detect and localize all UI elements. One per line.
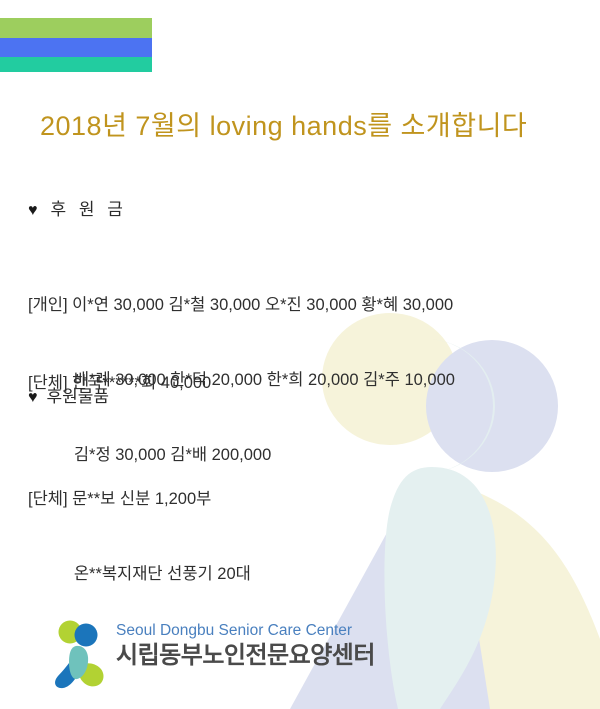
logo-text-group: Seoul Dongbu Senior Care Center 시립동부노인전문… <box>116 618 375 671</box>
section-heading-donation-goods: ♥후원물품 <box>28 382 109 407</box>
color-bar-green <box>0 18 152 38</box>
donation-goods-organization-block: [단체] 문**보 신분 1,200부 온**복지재단 선풍기 20대 <box>28 437 251 637</box>
watermark-yellow-wedge <box>455 484 600 709</box>
section-heading-label: 후 원 금 <box>51 200 127 219</box>
poster-page: 2018년 7월의 loving hands를 소개합니다 ♥후 원 금 [개인… <box>0 0 600 709</box>
header-color-bars <box>0 18 152 72</box>
person-logo-mark-icon <box>48 618 110 690</box>
footer-logo: Seoul Dongbu Senior Care Center 시립동부노인전문… <box>48 618 375 690</box>
page-title: 2018년 7월의 loving hands를 소개합니다 <box>40 104 527 143</box>
logo-english-name: Seoul Dongbu Senior Care Center <box>116 622 375 640</box>
donation-line: 온**복지재단 선풍기 20대 <box>28 562 251 587</box>
color-bar-teal <box>0 57 152 72</box>
donation-line: [단체] 문**보 신분 1,200부 <box>28 487 251 512</box>
donation-line: [개인] 이*연 30,000 김*철 30,000 오*진 30,000 황*… <box>28 293 455 318</box>
section-heading-donation-money: ♥후 원 금 <box>28 195 127 220</box>
heart-icon: ♥ <box>28 202 42 219</box>
color-bar-blue <box>0 38 152 57</box>
heart-icon: ♥ <box>28 389 38 406</box>
logo-blue-circle <box>75 624 98 647</box>
section-heading-label: 후원물품 <box>47 387 110 406</box>
logo-korean-name: 시립동부노인전문요양센터 <box>116 641 375 671</box>
